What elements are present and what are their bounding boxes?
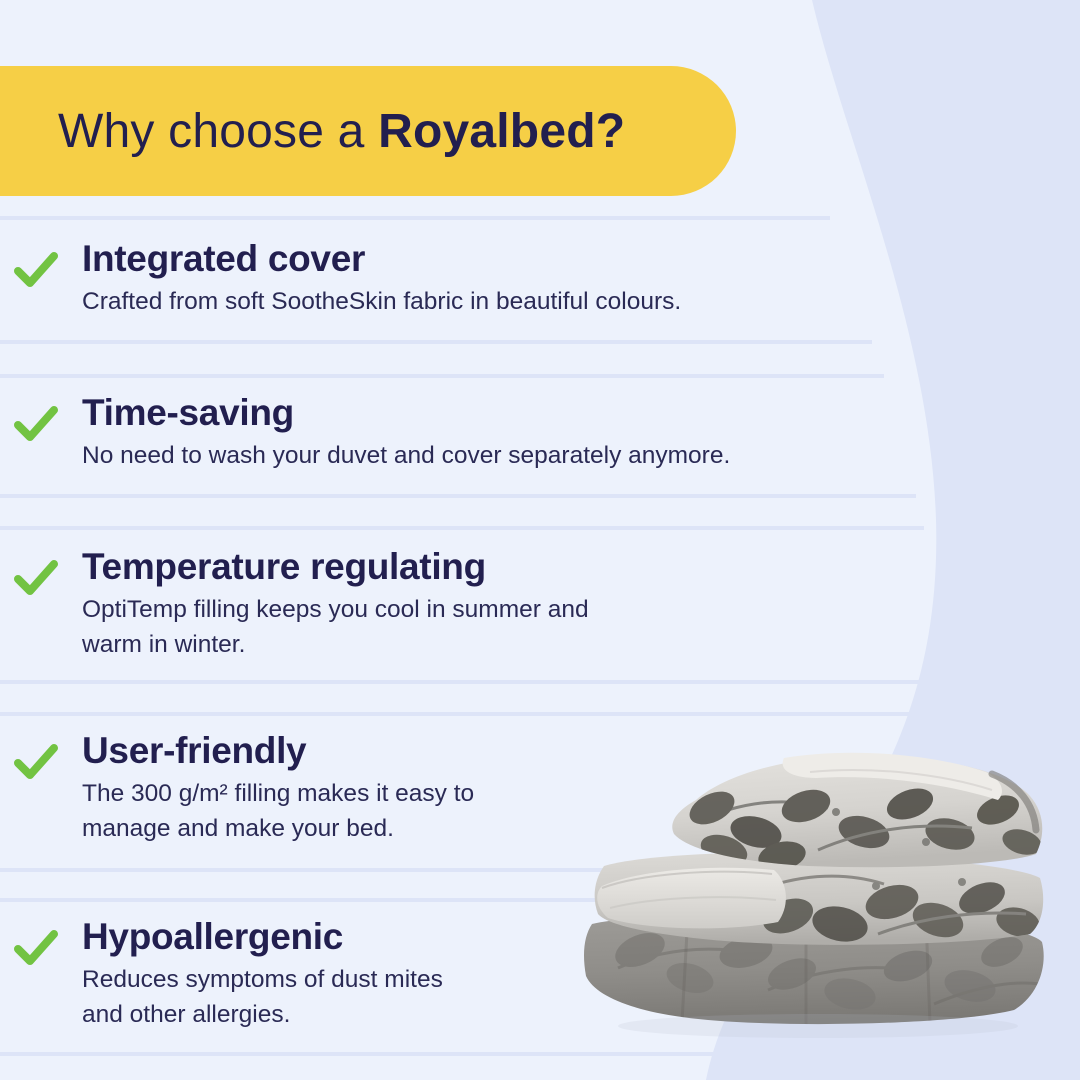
feature-text: Time-saving No need to wash your duvet a… [82,392,730,474]
check-icon [14,916,60,968]
check-icon [14,730,60,782]
check-icon [14,392,60,444]
feature-text: Integrated cover Crafted from soft Sooth… [82,238,681,320]
feature-title: Integrated cover [82,238,681,279]
feature-item-user-friendly: User-friendly The 300 g/m² filling makes… [0,730,474,847]
product-image-folded-duvet [578,738,1048,1038]
page-title-bold: Royalbed? [378,105,625,158]
divider-line [0,374,884,378]
divider-line [0,1052,772,1056]
divider-line [0,680,932,684]
feature-description: The 300 g/m² filling makes it easy to ma… [82,777,474,847]
feature-text: User-friendly The 300 g/m² filling makes… [82,730,474,847]
feature-item-integrated-cover: Integrated cover Crafted from soft Sooth… [0,238,681,320]
feature-text: Temperature regulating OptiTemp filling … [82,546,589,663]
feature-description: Reduces symptoms of dust mites and other… [82,963,443,1033]
divider-line [0,526,924,530]
feature-item-temperature-regulating: Temperature regulating OptiTemp filling … [0,546,589,663]
divider-line [0,216,830,220]
header-banner: Why choose a Royalbed? [0,66,736,196]
feature-item-hypoallergenic: Hypoallergenic Reduces symptoms of dust … [0,916,443,1033]
divider-line [0,494,916,498]
page-title-light: Why choose a [58,105,378,158]
feature-title: Time-saving [82,392,730,433]
feature-description: No need to wash your duvet and cover sep… [82,439,730,474]
feature-item-time-saving: Time-saving No need to wash your duvet a… [0,392,730,474]
feature-title: User-friendly [82,730,474,771]
feature-title: Hypoallergenic [82,916,443,957]
divider-line [0,340,872,344]
page-title: Why choose a Royalbed? [58,104,625,159]
feature-description: OptiTemp filling keeps you cool in summe… [82,593,589,663]
feature-title: Temperature regulating [82,546,589,587]
feature-description: Crafted from soft SootheSkin fabric in b… [82,285,681,320]
check-icon [14,546,60,598]
infographic-canvas: Why choose a Royalbed? Integrated cover … [0,0,1080,1080]
feature-text: Hypoallergenic Reduces symptoms of dust … [82,916,443,1033]
divider-line [0,712,924,716]
check-icon [14,238,60,290]
